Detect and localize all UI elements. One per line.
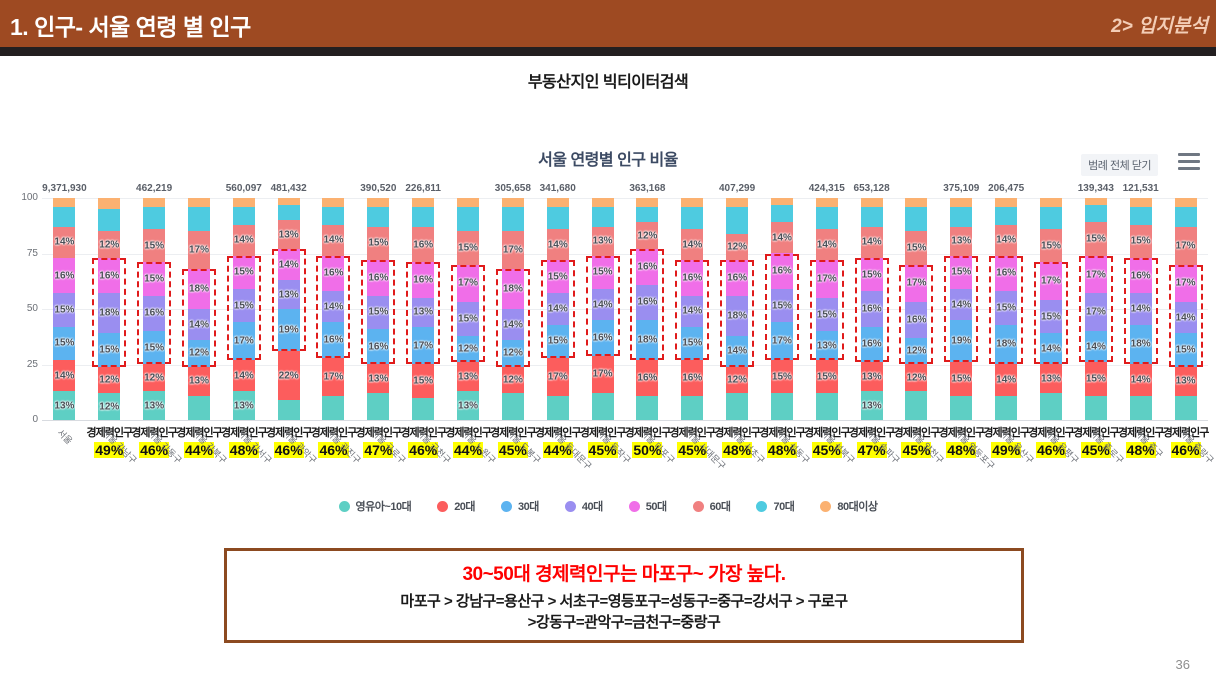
x-axis-line xyxy=(42,420,1208,421)
bar-segment-80대이상 xyxy=(950,198,972,207)
chart-panel: 서울 연령별 인구 비율 범례 전체 닫기 0255075100 14%16%1… xyxy=(0,120,1216,540)
bar-segment-70대 xyxy=(322,207,344,225)
segment-value-label: 15% xyxy=(862,269,882,280)
bar-segment-50대: 17% xyxy=(1040,262,1062,300)
segment-value-label: 17% xyxy=(1086,307,1106,318)
segment-value-label: 16% xyxy=(637,372,657,383)
legend-label: 40대 xyxy=(582,498,603,514)
hamburger-icon[interactable] xyxy=(1178,153,1200,170)
stacked-bar[interactable]: 14%17%15%13%15% xyxy=(816,198,838,420)
bar-segment-80대이상 xyxy=(726,198,748,207)
segment-value-label: 16% xyxy=(772,266,792,277)
bar-segment-40대: 14% xyxy=(322,291,344,322)
bar-segment-20대: 15% xyxy=(771,360,793,393)
bar-segment-20대: 14% xyxy=(1130,364,1152,395)
bar-segment-50대: 17% xyxy=(816,260,838,298)
bar-total-label: 653,128 xyxy=(854,183,890,194)
stacked-bar[interactable]: 14%16%15%17%15% xyxy=(771,198,793,420)
bar-segment-60대: 14% xyxy=(995,225,1017,256)
bar-segment-영유아~10대 xyxy=(905,391,927,420)
bar-segment-30대: 13% xyxy=(816,331,838,360)
segment-value-label: 13% xyxy=(368,373,388,384)
segment-value-label: 12% xyxy=(144,372,164,383)
bar-segment-50대: 15% xyxy=(233,256,255,289)
bar-segment-영유아~10대 xyxy=(950,396,972,420)
segment-value-label: 16% xyxy=(906,315,926,326)
stacked-bar[interactable]: 12%16%18%15%12%12% xyxy=(98,198,120,420)
segment-value-label: 15% xyxy=(458,313,478,324)
bar-total-label: 305,658 xyxy=(495,183,531,194)
segment-value-label: 14% xyxy=(234,235,254,246)
bar-column[interactable]: 14%17%15%13%15%424,315경제력인구45%서울 성북구 xyxy=(804,198,849,420)
segment-value-label: 14% xyxy=(54,370,74,381)
bar-segment-40대: 15% xyxy=(1040,300,1062,333)
bar-segment-영유아~10대 xyxy=(771,393,793,420)
stacked-bar[interactable]: 14%16%15%15%14%13% xyxy=(53,198,75,420)
segment-value-label: 15% xyxy=(996,302,1016,313)
segment-value-label: 14% xyxy=(1041,343,1061,354)
bar-total-label: 226,811 xyxy=(405,183,441,194)
bar-column[interactable]: 14%16%15%15%14%13%9,371,930서울 xyxy=(42,198,87,420)
bar-segment-70대 xyxy=(950,207,972,227)
bar-segment-50대: 17% xyxy=(1085,256,1107,294)
bar-column[interactable]: 15%15%16%15%12%13%462,219경제력인구46%서울 강동구 xyxy=(132,198,177,420)
bar-segment-70대 xyxy=(367,207,389,227)
segment-value-label: 12% xyxy=(99,374,119,385)
segment-value-label: 15% xyxy=(548,336,568,347)
bar-segment-40대: 17% xyxy=(1085,293,1107,331)
legend-item[interactable]: 20대 xyxy=(437,498,475,514)
bar-column[interactable]: 17%18%14%12%12%305,658경제력인구45%서울 도봉구 xyxy=(490,198,535,420)
bar-segment-40대: 16% xyxy=(636,285,658,321)
bar-column[interactable]: 15%17%15%14%13%경제력인구46%서울 은평구 xyxy=(1029,198,1074,420)
stacked-bar[interactable]: 15%15%16%15%12%13% xyxy=(143,198,165,420)
bar-segment-50대: 16% xyxy=(771,253,793,289)
bar-segment-80대이상 xyxy=(592,198,614,207)
segment-value-label: 16% xyxy=(413,275,433,286)
bar-segment-영유아~10대 xyxy=(1085,396,1107,420)
segment-value-label: 16% xyxy=(54,270,74,281)
bar-segment-20대: 14% xyxy=(53,360,75,391)
bar-segment-30대: 18% xyxy=(995,325,1017,365)
bar-segment-50대: 18% xyxy=(502,269,524,309)
legend-label: 영유아~10대 xyxy=(356,498,412,514)
bar-segment-50대: 16% xyxy=(322,256,344,292)
bar-segment-영유아~10대 xyxy=(547,396,569,420)
segment-value-label: 16% xyxy=(862,303,882,314)
page-title: 1. 인구- 서울 연령 별 인구 xyxy=(10,8,251,42)
bar-segment-50대: 16% xyxy=(726,260,748,296)
bar-segment-30대: 14% xyxy=(1085,331,1107,362)
segment-value-label: 14% xyxy=(503,319,523,330)
bar-segment-70대 xyxy=(905,207,927,231)
bar-segment-30대: 15% xyxy=(1175,333,1197,366)
segment-value-label: 13% xyxy=(413,307,433,318)
bar-segment-60대: 15% xyxy=(905,231,927,264)
bar-column[interactable]: 16%16%13%17%15%226,811경제력인구46%서울 금천구 xyxy=(401,198,446,420)
bar-segment-60대: 14% xyxy=(322,225,344,256)
segment-value-label: 16% xyxy=(323,335,343,346)
segment-value-label: 16% xyxy=(727,272,747,283)
stacked-bar[interactable]: 12%16%16%18%16% xyxy=(636,198,658,420)
bar-column[interactable]: 14%16%15%17%15%경제력인구48%서울 성동구 xyxy=(760,198,805,420)
bar-column[interactable]: 12%16%18%15%12%12%경제력인구49%서울 강남구 xyxy=(87,198,132,420)
bar-segment-60대: 15% xyxy=(1130,225,1152,258)
bar-segment-40대: 14% xyxy=(547,293,569,324)
bar-segment-80대이상 xyxy=(905,198,927,207)
bar-segment-60대: 15% xyxy=(367,227,389,260)
segment-value-label: 14% xyxy=(54,237,74,248)
segment-value-label: 14% xyxy=(234,370,254,381)
bar-segment-영유아~10대: 13% xyxy=(53,391,75,420)
segment-value-label: 14% xyxy=(323,235,343,246)
bar-segment-60대: 12% xyxy=(726,234,748,261)
bar-segment-60대: 14% xyxy=(861,227,883,258)
segment-value-label: 13% xyxy=(1041,373,1061,384)
bar-segment-30대: 16% xyxy=(322,322,344,358)
legend-label: 20대 xyxy=(454,498,475,514)
bar-segment-영유아~10대 xyxy=(1130,396,1152,420)
bar-segment-영유아~10대 xyxy=(188,396,210,420)
segment-value-label: 16% xyxy=(1131,270,1151,281)
segment-value-label: 12% xyxy=(458,343,478,354)
segment-value-label: 13% xyxy=(458,371,478,382)
segment-value-label: 12% xyxy=(637,230,657,241)
bar-segment-20대: 15% xyxy=(1085,362,1107,395)
bar-segment-80대이상 xyxy=(1130,198,1152,207)
segment-value-label: 14% xyxy=(323,301,343,312)
stacked-bar[interactable]: 13%14%13%19%22% xyxy=(278,198,300,420)
segment-value-label: 18% xyxy=(189,283,209,294)
segment-value-label: 13% xyxy=(279,289,299,300)
bar-column[interactable]: 14%15%15%17%14%13%560,097경제력인구48%서울 강서구 xyxy=(221,198,266,420)
bar-segment-70대 xyxy=(816,207,838,229)
bar-segment-80대이상 xyxy=(995,198,1017,207)
segment-value-label: 15% xyxy=(1041,240,1061,251)
bar-segment-영유아~10대 xyxy=(726,393,748,420)
legend-item[interactable]: 60대 xyxy=(693,498,731,514)
bar-segment-70대 xyxy=(98,209,120,231)
bar-segment-영유아~10대 xyxy=(322,396,344,420)
stacked-bar[interactable]: 13%15%14%16%17% xyxy=(592,198,614,420)
segment-value-label: 15% xyxy=(99,345,119,356)
bar-segment-40대: 15% xyxy=(771,289,793,322)
segment-value-label: 16% xyxy=(368,341,388,352)
segment-value-label: 15% xyxy=(368,238,388,249)
segment-value-label: 15% xyxy=(817,309,837,320)
bar-segment-40대: 16% xyxy=(861,291,883,327)
bar-segment-60대: 13% xyxy=(950,227,972,256)
stacked-bar[interactable]: 16%16%13%17%15% xyxy=(412,198,434,420)
segment-value-label: 17% xyxy=(413,340,433,351)
stacked-bar[interactable]: 14%15%15%17%14%13% xyxy=(233,198,255,420)
segment-value-label: 16% xyxy=(682,372,702,383)
segment-value-label: 15% xyxy=(951,373,971,384)
bar-segment-70대 xyxy=(771,205,793,223)
bar-segment-영유아~10대: 13% xyxy=(233,391,255,420)
segment-value-label: 13% xyxy=(279,229,299,240)
bar-segment-20대: 13% xyxy=(188,367,210,396)
segment-value-label: 18% xyxy=(99,308,119,319)
segment-value-label: 17% xyxy=(1041,276,1061,287)
bar-segment-80대이상 xyxy=(816,198,838,207)
segment-value-label: 15% xyxy=(951,267,971,278)
x-axis-label: 서울 xyxy=(55,426,76,447)
bar-segment-30대: 17% xyxy=(412,327,434,365)
bar-segment-50대: 15% xyxy=(547,260,569,293)
bar-column[interactable]: 15%16%14%18%14%121,531경제력인구48%서울 중구 xyxy=(1118,198,1163,420)
bar-column[interactable]: 14%15%14%15%17%341,680경제력인구44%서울 동대문구 xyxy=(535,198,580,420)
bar-segment-30대: 12% xyxy=(188,340,210,367)
segment-value-label: 15% xyxy=(593,267,613,278)
bar-column[interactable]: 15%17%15%12%13%13%경제력인구44%서울 노원구 xyxy=(446,198,491,420)
bar-column[interactable]: 14%16%14%16%17%경제력인구46%서울 광진구 xyxy=(311,198,356,420)
bar-segment-40대: 13% xyxy=(412,298,434,327)
bar-segment-60대: 15% xyxy=(1040,229,1062,262)
page-number: 36 xyxy=(1176,657,1190,672)
bar-segment-40대: 15% xyxy=(53,293,75,326)
bar-segment-80대이상 xyxy=(1175,198,1197,207)
bar-column[interactable]: 13%15%14%16%17%경제력인구45%서울 동작구 xyxy=(580,198,625,420)
segment-value-label: 14% xyxy=(862,237,882,248)
bar-segment-40대: 18% xyxy=(98,293,120,333)
segment-value-label: 15% xyxy=(1086,373,1106,384)
stacked-bar[interactable]: 14%16%14%16%17% xyxy=(322,198,344,420)
segment-value-label: 19% xyxy=(951,336,971,347)
segment-value-label: 15% xyxy=(772,300,792,311)
legend-item[interactable]: 80대이상 xyxy=(820,498,877,514)
segment-value-label: 13% xyxy=(951,236,971,247)
stacked-bar[interactable]: 14%16%15%18%14% xyxy=(995,198,1017,420)
segment-value-label: 22% xyxy=(279,370,299,381)
segment-value-label: 14% xyxy=(1131,303,1151,314)
segment-value-label: 16% xyxy=(368,272,388,283)
bar-segment-60대: 17% xyxy=(502,231,524,269)
bar-column[interactable]: 13%15%14%19%15%375,109경제력인구48%서울 영등포구 xyxy=(939,198,984,420)
stacked-bar[interactable]: 14%15%14%15%17% xyxy=(547,198,569,420)
bar-segment-20대: 14% xyxy=(233,360,255,391)
segment-value-label: 14% xyxy=(996,375,1016,386)
segment-value-label: 15% xyxy=(413,376,433,387)
segment-value-label: 14% xyxy=(682,239,702,250)
stacked-bar[interactable]: 12%16%18%14%12% xyxy=(726,198,748,420)
legend-item[interactable]: 70대 xyxy=(756,498,794,514)
bar-segment-영유아~10대 xyxy=(816,393,838,420)
stacked-bar[interactable]: 15%17%17%14%15% xyxy=(1085,198,1107,420)
segment-value-label: 17% xyxy=(503,245,523,256)
stacked-bar[interactable]: 14%15%16%16%13%13% xyxy=(861,198,883,420)
bar-column[interactable]: 15%16%15%16%13%390,520경제력인구47%서울 구로구 xyxy=(356,198,401,420)
bar-segment-70대 xyxy=(53,207,75,227)
bar-segment-30대: 15% xyxy=(53,327,75,360)
segment-value-label: 15% xyxy=(1086,234,1106,245)
bar-segment-60대: 12% xyxy=(98,231,120,258)
bar-segment-70대 xyxy=(233,207,255,225)
segment-value-label: 17% xyxy=(906,278,926,289)
legend-label: 80대이상 xyxy=(837,498,877,514)
bar-segment-30대: 15% xyxy=(143,331,165,364)
bar-segment-60대: 16% xyxy=(412,227,434,263)
segment-value-label: 15% xyxy=(906,242,926,253)
bar-segment-40대: 18% xyxy=(726,296,748,336)
segment-value-label: 16% xyxy=(996,268,1016,279)
y-axis-tick: 0 xyxy=(8,414,38,425)
bar-segment-40대: 15% xyxy=(995,291,1017,324)
bar-segment-20대: 13% xyxy=(457,362,479,391)
bar-column[interactable]: 12%16%16%18%16%363,168경제력인구50%서울 마포구 xyxy=(625,198,670,420)
bar-segment-80대이상 xyxy=(367,198,389,207)
bar-segment-70대 xyxy=(1130,207,1152,225)
segment-value-label: 18% xyxy=(727,310,747,321)
segment-value-label: 16% xyxy=(637,261,657,272)
bar-segment-50대: 17% xyxy=(1175,265,1197,303)
stacked-bar[interactable]: 17%17%14%15%13% xyxy=(1175,198,1197,420)
chart-legend: 영유아~10대20대30대40대50대60대70대80대이상 xyxy=(0,498,1216,514)
bar-segment-50대: 16% xyxy=(1130,258,1152,294)
bar-segment-40대: 13% xyxy=(278,280,300,309)
stacked-bar[interactable]: 17%18%14%12%12% xyxy=(502,198,524,420)
bar-segment-50대: 17% xyxy=(457,265,479,303)
bar-segment-60대: 14% xyxy=(547,229,569,260)
segment-value-label: 17% xyxy=(593,369,613,380)
segment-value-label: 16% xyxy=(682,272,702,283)
segment-value-label: 15% xyxy=(54,338,74,349)
bar-segment-40대: 16% xyxy=(905,302,927,338)
segment-value-label: 14% xyxy=(1086,341,1106,352)
bar-segment-30대: 12% xyxy=(502,340,524,367)
segment-value-label: 12% xyxy=(906,372,926,383)
bar-segment-60대: 17% xyxy=(188,231,210,269)
segment-value-label: 16% xyxy=(862,339,882,350)
header-divider xyxy=(0,47,1216,56)
bar-segment-40대: 14% xyxy=(1130,293,1152,324)
segment-value-label: 14% xyxy=(772,232,792,243)
bar-segment-20대: 15% xyxy=(816,360,838,393)
conclusion-ranking-line-1: 마포구 > 강남구=용산구 > 서초구=영등포구=성동구=중구=강서구 > 구로… xyxy=(400,590,847,611)
stacked-bar[interactable]: 15%17%16%12%12% xyxy=(905,198,927,420)
bar-segment-50대: 16% xyxy=(98,258,120,294)
legend-toggle-button[interactable]: 범례 전체 닫기 xyxy=(1081,154,1158,176)
bar-segment-영유아~10대 xyxy=(1175,396,1197,420)
segment-value-label: 17% xyxy=(1086,269,1106,280)
bar-segment-40대: 15% xyxy=(367,296,389,329)
bar-segment-영유아~10대 xyxy=(681,396,703,420)
bar-segment-70대 xyxy=(1085,205,1107,223)
legend-item[interactable]: 30대 xyxy=(501,498,539,514)
segment-value-label: 14% xyxy=(951,299,971,310)
bar-segment-20대: 13% xyxy=(1175,367,1197,396)
bar-segment-영유아~10대 xyxy=(995,396,1017,420)
segment-value-label: 12% xyxy=(906,346,926,357)
bar-total-label: 9,371,930 xyxy=(42,183,87,194)
bar-segment-20대: 12% xyxy=(143,364,165,391)
source-subtitle: 부동산지인 빅티이터검색 xyxy=(0,68,1216,92)
bar-segment-60대: 13% xyxy=(592,227,614,256)
bar-segment-영유아~10대 xyxy=(412,398,434,420)
bar-segment-70대 xyxy=(547,207,569,229)
stacked-bar[interactable]: 15%17%15%14%13% xyxy=(1040,198,1062,420)
bar-segment-80대이상 xyxy=(1085,198,1107,205)
bar-segment-40대: 14% xyxy=(502,309,524,340)
bar-segment-50대: 15% xyxy=(950,256,972,289)
bar-segment-40대: 14% xyxy=(950,289,972,320)
bar-total-label: 390,520 xyxy=(360,183,396,194)
bar-segment-30대: 12% xyxy=(905,338,927,365)
bar-segment-80대이상 xyxy=(143,198,165,207)
stacked-bar[interactable]: 15%16%15%16%13% xyxy=(367,198,389,420)
stacked-bar[interactable]: 14%16%14%15%16% xyxy=(681,198,703,420)
bar-segment-20대: 17% xyxy=(547,358,569,396)
bar-column[interactable]: 14%15%16%16%13%13%653,128경제력인구47%서울 송파구 xyxy=(849,198,894,420)
bar-column[interactable]: 15%17%16%12%12%경제력인구45%서울 양천구 xyxy=(894,198,939,420)
legend-item[interactable]: 40대 xyxy=(565,498,603,514)
stacked-bar[interactable]: 15%17%15%12%13%13% xyxy=(457,198,479,420)
bar-column[interactable]: 14%16%14%15%16%경제력인구45%서울 서대문구 xyxy=(670,198,715,420)
segment-value-label: 15% xyxy=(458,242,478,253)
bar-segment-20대: 13% xyxy=(367,364,389,393)
bar-segment-30대: 14% xyxy=(726,336,748,367)
bar-series-container: 14%16%15%15%14%13%9,371,930서울12%16%18%15… xyxy=(42,198,1208,420)
bar-column[interactable]: 14%16%15%18%14%206,475경제력인구49%서울 용산구 xyxy=(984,198,1029,420)
segment-value-label: 15% xyxy=(144,240,164,251)
legend-label: 70대 xyxy=(773,498,794,514)
bar-column[interactable]: 15%17%17%14%15%139,343경제력인구45%서울 종로구 xyxy=(1073,198,1118,420)
legend-swatch-icon xyxy=(756,501,767,512)
bar-segment-20대: 15% xyxy=(412,364,434,397)
bar-column[interactable]: 17%18%14%12%13%경제력인구44%서울 강북구 xyxy=(177,198,222,420)
legend-label: 60대 xyxy=(710,498,731,514)
bar-segment-영유아~10대: 13% xyxy=(457,391,479,420)
bar-segment-60대: 15% xyxy=(457,231,479,264)
segment-value-label: 16% xyxy=(323,268,343,279)
segment-value-label: 15% xyxy=(368,307,388,318)
bar-segment-30대: 18% xyxy=(636,320,658,360)
y-axis-tick: 25 xyxy=(8,359,38,370)
stacked-bar[interactable]: 17%18%14%12%13% xyxy=(188,198,210,420)
bar-segment-80대이상 xyxy=(322,198,344,207)
bar-segment-60대: 12% xyxy=(636,222,658,249)
legend-item[interactable]: 영유아~10대 xyxy=(339,498,412,514)
bar-segment-영유아~10대 xyxy=(502,393,524,420)
stacked-bar[interactable]: 15%16%14%18%14% xyxy=(1130,198,1152,420)
segment-value-label: 13% xyxy=(234,400,254,411)
bar-segment-70대 xyxy=(995,207,1017,225)
bar-segment-20대: 12% xyxy=(98,367,120,394)
segment-value-label: 17% xyxy=(1176,240,1196,251)
segment-value-label: 12% xyxy=(189,348,209,359)
legend-item[interactable]: 50대 xyxy=(629,498,667,514)
segment-value-label: 17% xyxy=(548,371,568,382)
stacked-bar[interactable]: 13%15%14%19%15% xyxy=(950,198,972,420)
bar-column[interactable]: 17%17%14%15%13%경제력인구46%서울 중랑구 xyxy=(1163,198,1208,420)
bar-column[interactable]: 12%16%18%14%12%407,299경제력인구48%서울 서초구 xyxy=(715,198,760,420)
bar-segment-50대: 15% xyxy=(861,258,883,291)
bar-segment-40대: 16% xyxy=(143,296,165,332)
segment-value-label: 17% xyxy=(1176,278,1196,289)
segment-value-label: 13% xyxy=(862,400,882,411)
segment-value-label: 17% xyxy=(234,336,254,347)
conclusion-box: 30~50대 경제력인구는 마포구~ 가장 높다. 마포구 > 강남구=용산구 … xyxy=(224,548,1024,643)
bar-segment-50대: 15% xyxy=(592,256,614,289)
bar-segment-60대: 14% xyxy=(816,229,838,260)
segment-value-label: 17% xyxy=(817,274,837,285)
segment-value-label: 13% xyxy=(189,376,209,387)
bar-total-label: 206,475 xyxy=(988,183,1024,194)
legend-swatch-icon xyxy=(820,501,831,512)
segment-value-label: 15% xyxy=(548,271,568,282)
chart-title: 서울 연령별 인구 비율 xyxy=(0,146,1216,170)
bar-column[interactable]: 13%14%13%19%22%481,432경제력인구46%서울 관악구 xyxy=(266,198,311,420)
